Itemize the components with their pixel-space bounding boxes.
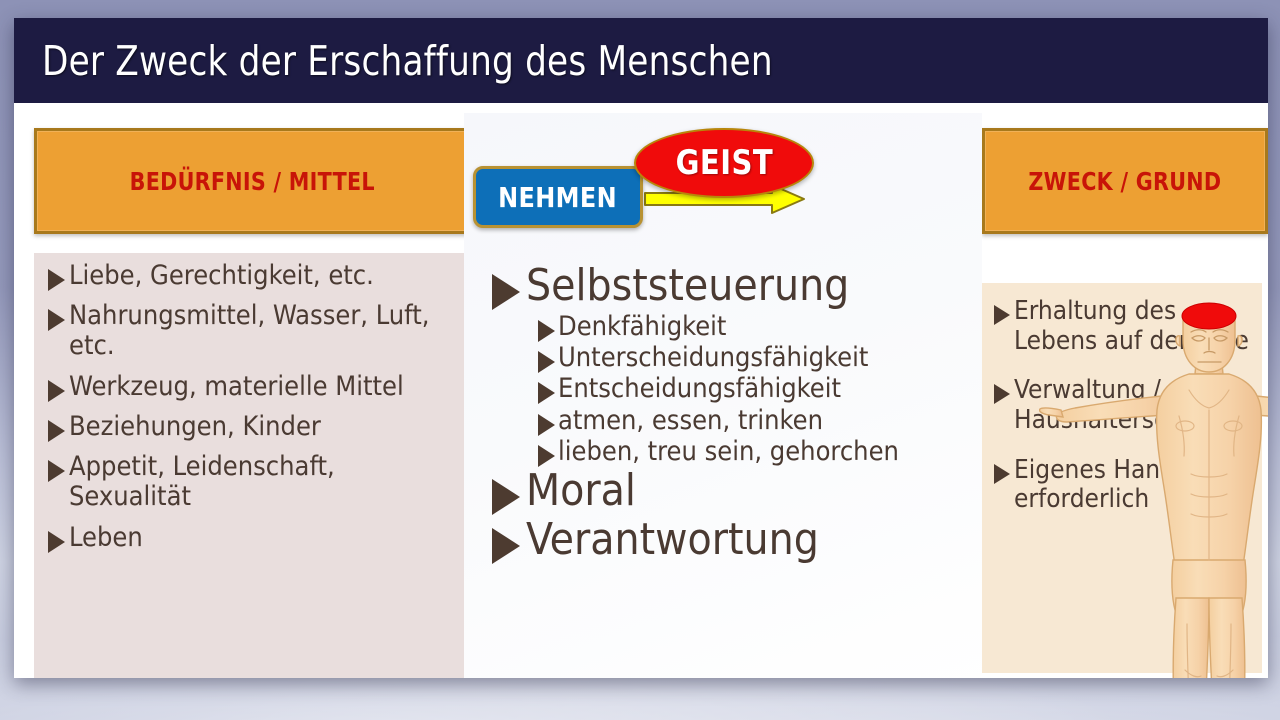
bullet-triangle-icon bbox=[994, 384, 1010, 404]
bullet-triangle-icon bbox=[492, 274, 520, 310]
list-item-label: Entscheidungsfähigkeit bbox=[558, 374, 841, 404]
bullet-triangle-icon bbox=[538, 351, 555, 373]
list-item: atmen, essen, trinken bbox=[538, 406, 976, 436]
list-item-label: Selbststeuerung bbox=[526, 263, 849, 309]
left-column-panel: Liebe, Gerechtigkeit, etc. Nahrungsmitte… bbox=[34, 253, 464, 678]
list-item: Leben bbox=[48, 523, 456, 553]
center-bullet-list: Selbststeuerung Denkfähigkeit Unterschei… bbox=[492, 263, 976, 566]
list-item-label: Nahrungsmittel, Wasser, Luft, etc. bbox=[69, 301, 456, 361]
bullet-triangle-icon bbox=[538, 414, 555, 436]
left-bullet-list: Liebe, Gerechtigkeit, etc. Nahrungsmitte… bbox=[48, 261, 456, 563]
list-item-label: Leben bbox=[69, 523, 143, 553]
list-item: Nahrungsmittel, Wasser, Luft, etc. bbox=[48, 301, 456, 361]
right-column-header-badge: ZWECK / GRUND bbox=[982, 128, 1268, 234]
list-item-label: lieben, treu sein, gehorchen bbox=[558, 437, 899, 467]
bullet-triangle-icon bbox=[48, 380, 65, 402]
list-item-label: Werkzeug, materielle Mittel bbox=[69, 372, 404, 402]
nehmen-badge: NEHMEN bbox=[473, 166, 643, 228]
list-item: Selbststeuerung bbox=[492, 263, 976, 310]
left-column-header-badge: BEDÜRFNIS / MITTEL bbox=[34, 128, 470, 234]
list-item: Entscheidungsfähigkeit bbox=[538, 374, 976, 404]
list-item: Beziehungen, Kinder bbox=[48, 412, 456, 442]
bullet-triangle-icon bbox=[994, 464, 1010, 484]
list-item-label: Beziehungen, Kinder bbox=[69, 412, 321, 442]
list-item-label: Appetit, Leidenschaft, Sexualität bbox=[69, 452, 456, 512]
bullet-triangle-icon bbox=[492, 528, 520, 564]
bullet-triangle-icon bbox=[48, 309, 65, 331]
list-item-label: Unterscheidungsfähigkeit bbox=[558, 343, 868, 373]
page-title: Der Zweck der Erschaffung des Menschen bbox=[42, 37, 773, 85]
list-item-label: Verantwortung bbox=[526, 517, 819, 563]
bullet-triangle-icon bbox=[492, 479, 520, 515]
list-item: Verantwortung bbox=[492, 517, 976, 564]
bullet-triangle-icon bbox=[994, 305, 1010, 325]
geist-badge: GEIST bbox=[634, 128, 814, 198]
bullet-triangle-icon bbox=[48, 420, 65, 442]
slide-card: Der Zweck der Erschaffung des Menschen B… bbox=[14, 18, 1268, 678]
list-item: Denkfähigkeit bbox=[538, 312, 976, 342]
nehmen-label: NEHMEN bbox=[499, 181, 618, 214]
bullet-triangle-icon bbox=[538, 382, 555, 404]
list-item-label: Moral bbox=[526, 468, 636, 514]
bullet-triangle-icon bbox=[538, 320, 555, 342]
title-bar: Der Zweck der Erschaffung des Menschen bbox=[14, 18, 1268, 103]
list-item-label: atmen, essen, trinken bbox=[558, 406, 823, 436]
list-item: Werkzeug, materielle Mittel bbox=[48, 372, 456, 402]
bullet-triangle-icon bbox=[538, 445, 555, 467]
list-item: lieben, treu sein, gehorchen bbox=[538, 437, 976, 467]
geist-label: GEIST bbox=[675, 143, 773, 183]
list-item: Moral bbox=[492, 468, 976, 515]
list-item-label: Denkfähigkeit bbox=[558, 312, 726, 342]
right-column-header-label: ZWECK / GRUND bbox=[1029, 167, 1222, 196]
left-column-header-label: BEDÜRFNIS / MITTEL bbox=[129, 167, 374, 196]
list-item: Liebe, Gerechtigkeit, etc. bbox=[48, 261, 456, 291]
bullet-triangle-icon bbox=[48, 531, 65, 553]
list-item-label: Liebe, Gerechtigkeit, etc. bbox=[69, 261, 374, 291]
bullet-triangle-icon bbox=[48, 460, 65, 482]
list-item: Appetit, Leidenschaft, Sexualität bbox=[48, 452, 456, 512]
human-body-icon bbox=[1039, 298, 1268, 678]
bullet-triangle-icon bbox=[48, 269, 65, 291]
list-item: Unterscheidungsfähigkeit bbox=[538, 343, 976, 373]
